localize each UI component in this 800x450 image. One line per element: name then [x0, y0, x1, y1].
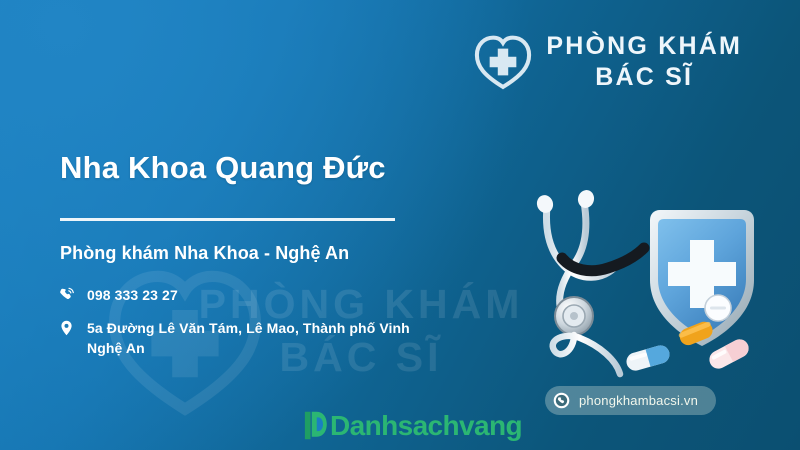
address-row[interactable]: 5a Đường Lê Văn Tám, Lê Mao, Thành phố V…	[58, 318, 478, 359]
map-pin-icon	[58, 319, 75, 337]
listing-subtitle: Phòng khám Nha Khoa - Nghệ An	[60, 243, 349, 264]
danhsachvang-wordmark: Danhsachvang	[330, 410, 522, 442]
website-url: phongkhambacsi.vn	[579, 393, 698, 408]
brand-logo[interactable]: PHÒNG KHÁM BÁC SĨ	[474, 32, 742, 91]
page-title: Nha Khoa Quang Đức	[60, 150, 386, 186]
brand-line-2: BÁC SĨ	[546, 63, 742, 91]
phone-number: 098 333 23 27	[87, 285, 178, 305]
business-listing-banner: PHÒNG KHÁM BÁC SĨ PHÒNG KHÁM BÁC SĨ Nha …	[0, 0, 800, 450]
phone-row[interactable]: 098 333 23 27	[58, 285, 178, 305]
address-text: 5a Đường Lê Văn Tám, Lê Mao, Thành phố V…	[87, 318, 410, 359]
phone-call-icon	[58, 286, 75, 304]
danhsachvang-d-icon	[303, 409, 328, 442]
brand-wordmark: PHÒNG KHÁM BÁC SĨ	[546, 32, 742, 91]
website-badge[interactable]: phongkhambacsi.vn	[545, 386, 716, 415]
heart-shield-cross-icon	[474, 33, 532, 91]
danhsachvang-logo[interactable]: Danhsachvang	[303, 409, 522, 442]
medical-illustration	[512, 188, 792, 393]
title-divider	[60, 218, 395, 221]
globe-browser-icon	[553, 392, 570, 409]
brand-line-1: PHÒNG KHÁM	[546, 32, 742, 60]
